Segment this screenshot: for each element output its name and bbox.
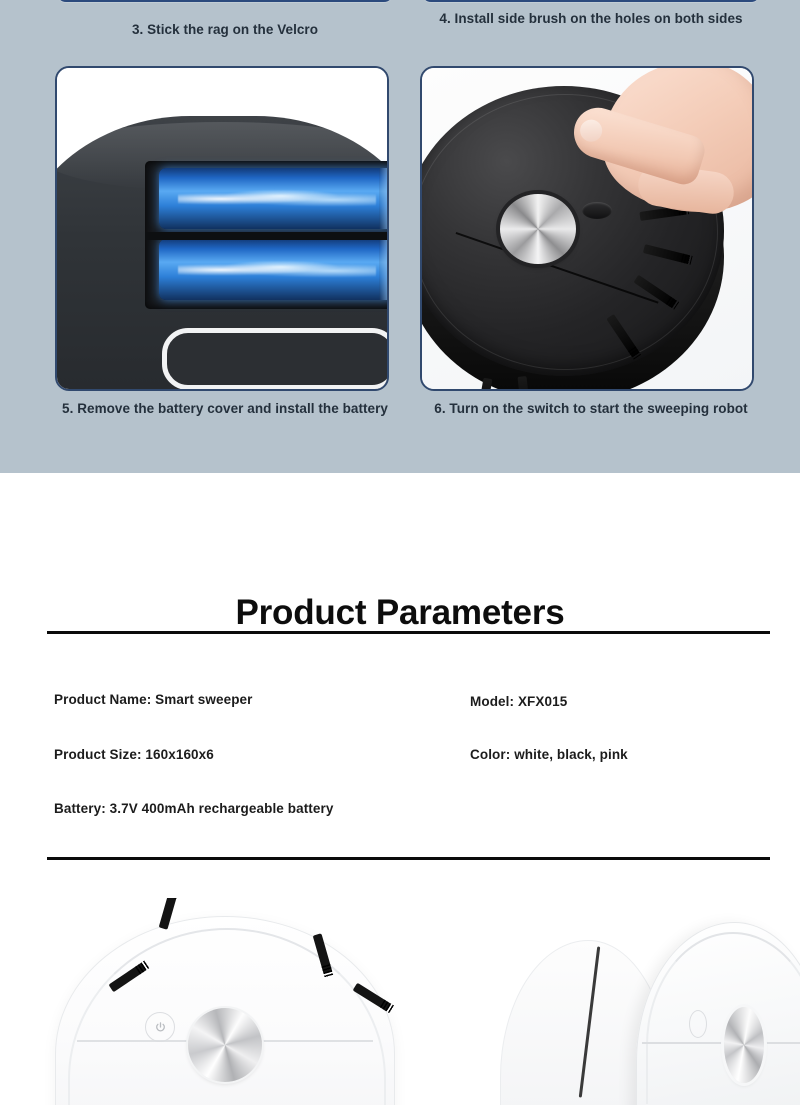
white-robot-angled-photo <box>500 910 800 1105</box>
robot-center-disc <box>188 1008 262 1082</box>
previous-step-card-tab-right <box>422 0 760 2</box>
battery-compartment-photo-card <box>55 66 389 391</box>
product-gallery <box>0 898 800 1105</box>
power-switch-photo <box>422 68 752 389</box>
battery-cover-handle <box>162 328 389 390</box>
power-icon[interactable] <box>145 1012 175 1042</box>
parameters-bottom-divider <box>47 857 770 860</box>
step-4-caption: 4. Install side brush on the holes on bo… <box>422 10 760 27</box>
step-5-caption: 5. Remove the battery cover and install … <box>57 400 393 417</box>
robot-center-disc <box>500 194 576 264</box>
front-robot-seam <box>642 1042 800 1044</box>
spec-product-size: Product Size: 160x160x6 <box>54 747 214 762</box>
step-3-caption: 3. Stick the rag on the Velcro <box>57 21 393 38</box>
assembly-instructions-section: 3. Stick the rag on the Velcro 4. Instal… <box>0 0 800 473</box>
power-switch-photo-card <box>420 66 754 391</box>
battery-compartment-photo <box>57 68 387 389</box>
energy-spark-effect <box>178 189 376 207</box>
step-6-caption: 6. Turn on the switch to start the sweep… <box>422 400 760 417</box>
battery-slot-divider <box>145 232 389 240</box>
battery-terminal <box>379 239 389 300</box>
battery-terminal <box>379 168 389 229</box>
white-robot-front-photo <box>55 916 395 1105</box>
robot-center-disc <box>724 1007 764 1083</box>
product-parameters-section: Product Parameters Product Name: Smart s… <box>0 473 800 1105</box>
previous-step-card-tab-left <box>57 0 393 2</box>
spec-battery: Battery: 3.7V 400mAh rechargeable batter… <box>54 801 333 816</box>
power-icon[interactable] <box>689 1010 707 1038</box>
product-parameters-title: Product Parameters <box>0 593 800 633</box>
spec-color: Color: white, black, pink <box>470 747 628 762</box>
energy-spark-effect <box>178 260 376 278</box>
spec-model: Model: XFX015 <box>470 694 567 709</box>
hand-pressing-button <box>568 68 752 252</box>
spec-product-name: Product Name: Smart sweeper <box>54 692 253 707</box>
battery-cell-1 <box>159 168 389 229</box>
battery-cell-2 <box>159 239 389 300</box>
parameters-top-divider <box>47 631 770 634</box>
